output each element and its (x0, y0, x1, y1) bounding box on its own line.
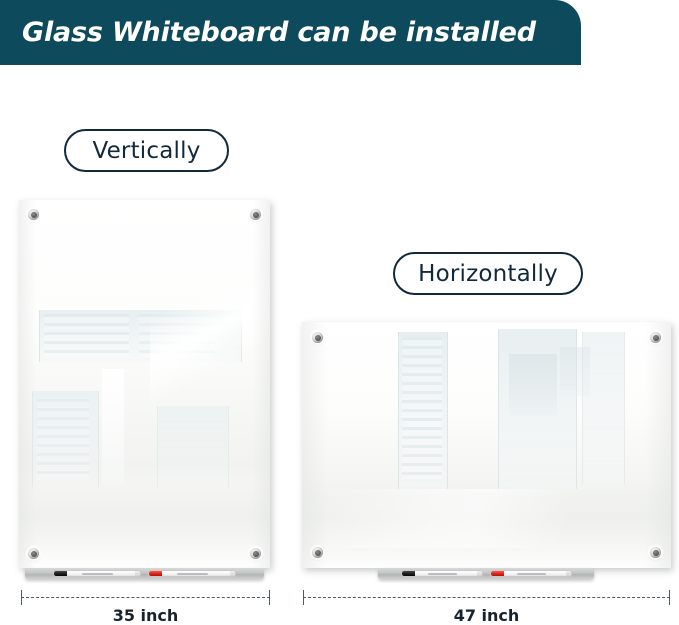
dimension-tick-left (303, 590, 304, 605)
pillar-reflection (102, 369, 125, 487)
marker-label-band (517, 573, 546, 575)
floor-light-sheen (302, 489, 671, 548)
dimension-tick-left (21, 590, 22, 605)
panel-edge-shading (19, 200, 270, 568)
dimension-dashed-line (21, 597, 270, 598)
marker-barrel (504, 571, 566, 576)
marker-barrel (162, 571, 230, 576)
blind-slats-reflection-left (44, 314, 129, 358)
window-reflection-lower-left (32, 391, 99, 487)
horizontal-board-glass-panel (302, 322, 671, 568)
window-reflection-left (398, 332, 448, 489)
mount-screw-top-left (312, 332, 323, 343)
window-reflection-right (582, 332, 625, 485)
mount-screw-bottom-right (250, 548, 261, 559)
marker-black (53, 570, 141, 577)
dimension-label-width-35: 35 inch (21, 606, 270, 625)
dimension-tick-right (269, 590, 270, 605)
marker-label-band (428, 573, 457, 575)
dimension-tick-right (669, 590, 670, 605)
marker-label-band (82, 573, 113, 575)
blind-slats-reflection-left (402, 337, 443, 480)
marker-cap-black (54, 571, 67, 576)
marker-tip (566, 571, 571, 576)
vertical-board-glass-panel (19, 200, 270, 568)
window-reflection-lower-right (157, 406, 229, 487)
marker-label-band (177, 573, 208, 575)
marker-tip (477, 571, 482, 576)
marker-red (490, 570, 572, 577)
window-reflection-center (498, 329, 577, 489)
window-reflection-upper (39, 310, 242, 362)
marker-cap-black (402, 571, 415, 576)
diagonal-light-streak (150, 200, 270, 428)
dimension-line-horizontal-board: 47 inch (303, 597, 670, 598)
glass-base-gradient (19, 200, 270, 568)
dimension-label-width-47: 47 inch (303, 606, 670, 625)
blind-slats-reflection-right (139, 314, 214, 358)
orientation-label-horizontally: Horizontally (393, 252, 583, 295)
dimension-dashed-line (303, 597, 670, 598)
marker-barrel (67, 571, 135, 576)
building-skyline-reflection (509, 354, 557, 416)
marker-red (148, 570, 236, 577)
header-banner: Glass Whiteboard can be installed (0, 0, 581, 65)
orientation-label-horizontally-text: Horizontally (418, 261, 558, 287)
marker-barrel (415, 571, 477, 576)
vertical-board-marker-tray (25, 568, 264, 579)
marker-tip (135, 571, 140, 576)
mount-screw-top-left (28, 209, 39, 220)
orientation-label-vertically: Vertically (64, 129, 229, 172)
mount-screw-top-right (650, 332, 661, 343)
glass-base-gradient (302, 322, 671, 568)
marker-cap-red (149, 571, 162, 576)
page-title: Glass Whiteboard can be installed (0, 17, 536, 48)
marker-cap-red (491, 571, 504, 576)
mount-screw-bottom-left (28, 548, 39, 559)
floor-reflection (302, 484, 671, 568)
panel-edge-shading (302, 322, 671, 568)
vertical-glass-whiteboard (19, 200, 270, 568)
horizontal-board-marker-tray (378, 568, 594, 579)
mount-screw-bottom-right (650, 547, 661, 558)
floor-reflection (19, 480, 270, 568)
building-skyline-reflection-far (560, 347, 590, 396)
mount-screw-bottom-left (312, 547, 323, 558)
marker-black (401, 570, 483, 577)
orientation-label-vertically-text: Vertically (92, 138, 200, 164)
dimension-line-vertical-board: 35 inch (21, 597, 270, 598)
mount-screw-top-right (250, 209, 261, 220)
blind-slats-reflection-lower (37, 399, 90, 480)
marker-tip (230, 571, 235, 576)
horizontal-glass-whiteboard (302, 322, 671, 568)
